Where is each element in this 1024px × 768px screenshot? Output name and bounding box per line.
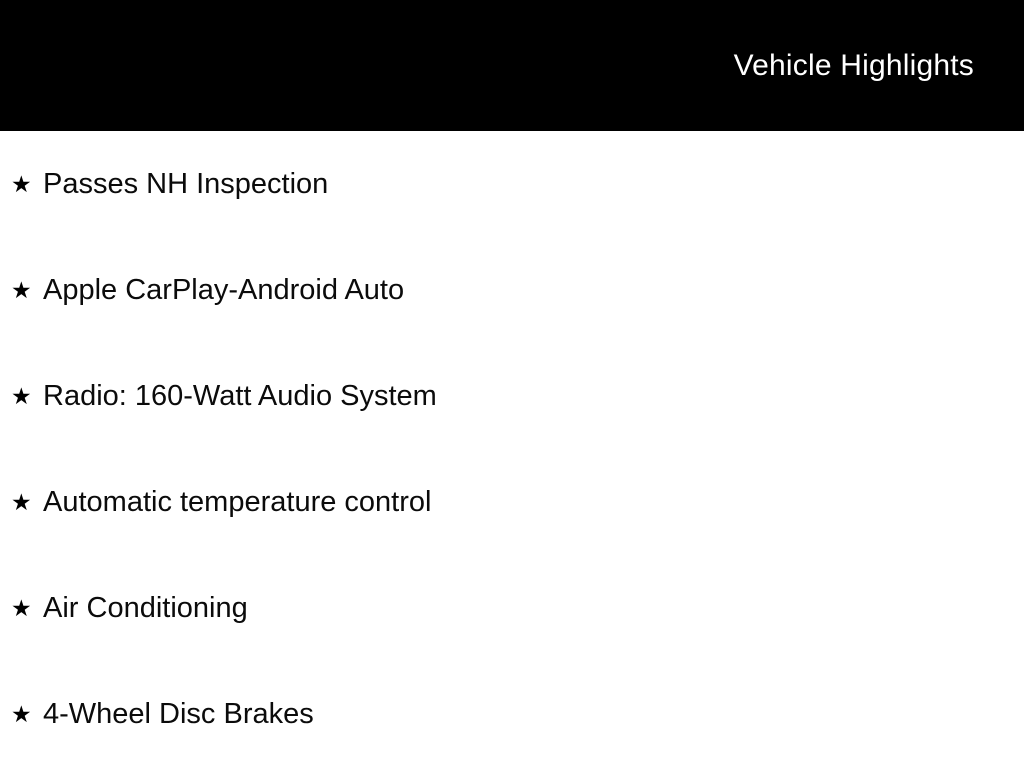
highlight-label: Air Conditioning: [43, 593, 248, 625]
highlight-label: Apple CarPlay-Android Auto: [43, 275, 404, 307]
highlight-label: Automatic temperature control: [43, 487, 431, 519]
highlight-label: Radio: 160-Watt Audio System: [43, 381, 437, 413]
highlight-label: Passes NH Inspection: [43, 169, 328, 201]
star-icon: ★: [11, 704, 43, 727]
vehicle-highlights-list: ★ Passes NH Inspection ★ Apple CarPlay-A…: [0, 131, 1024, 768]
star-icon: ★: [11, 174, 43, 197]
star-icon: ★: [11, 492, 43, 515]
star-icon: ★: [11, 386, 43, 409]
list-item: ★ Apple CarPlay-Android Auto: [0, 271, 1024, 311]
highlight-label: 4-Wheel Disc Brakes: [43, 699, 314, 731]
list-item: ★ Radio: 160-Watt Audio System: [0, 377, 1024, 417]
page-title: Vehicle Highlights: [734, 51, 974, 81]
list-item: ★ Automatic temperature control: [0, 483, 1024, 523]
star-icon: ★: [11, 598, 43, 621]
list-item: ★ Air Conditioning: [0, 589, 1024, 629]
vehicle-highlights-page: Vehicle Highlights ★ Passes NH Inspectio…: [0, 0, 1024, 768]
page-header: Vehicle Highlights: [0, 0, 1024, 131]
star-icon: ★: [11, 280, 43, 303]
list-item: ★ 4-Wheel Disc Brakes: [0, 695, 1024, 735]
list-item: ★ Passes NH Inspection: [0, 165, 1024, 205]
